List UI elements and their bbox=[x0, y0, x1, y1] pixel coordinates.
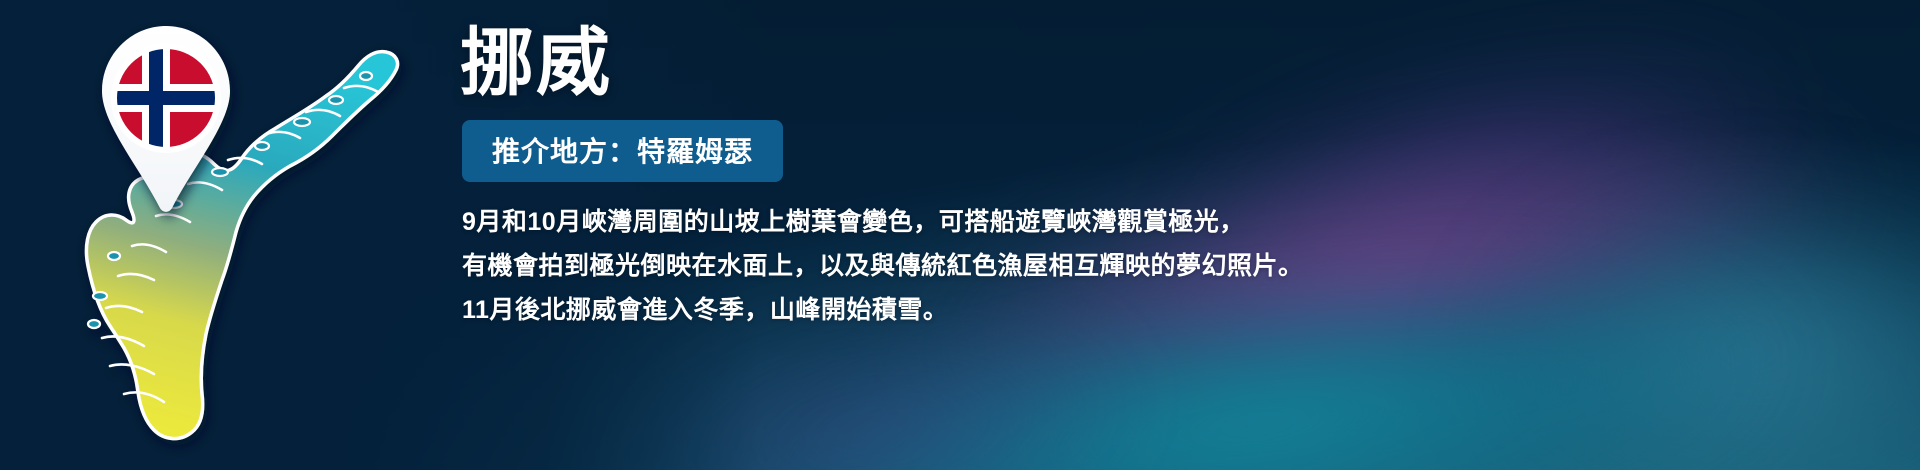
page-title: 挪威 bbox=[460, 26, 612, 100]
norway-map-block bbox=[0, 0, 440, 470]
recommended-place-badge[interactable]: 推介地方：特羅姆瑟 bbox=[462, 120, 783, 182]
description-text: 9月和10月峽灣周圍的山坡上樹葉會變色，可搭船遊覽峽灣觀賞極光， 有機會拍到極光… bbox=[462, 200, 1582, 332]
description-line: 11月後北挪威會進入冬季，山峰開始積雪。 bbox=[462, 288, 1582, 332]
banner-content: 挪威 推介地方：特羅姆瑟 9月和10月峽灣周圍的山坡上樹葉會變色，可搭船遊覽峽灣… bbox=[460, 0, 1660, 470]
country-banner: 挪威 推介地方：特羅姆瑟 9月和10月峽灣周圍的山坡上樹葉會變色，可搭船遊覽峽灣… bbox=[0, 0, 1920, 470]
norway-map-icon bbox=[14, 8, 434, 468]
description-line: 有機會拍到極光倒映在水面上，以及與傳統紅色漁屋相互輝映的夢幻照片。 bbox=[462, 244, 1582, 288]
description-line: 9月和10月峽灣周圍的山坡上樹葉會變色，可搭船遊覽峽灣觀賞極光， bbox=[462, 200, 1582, 244]
